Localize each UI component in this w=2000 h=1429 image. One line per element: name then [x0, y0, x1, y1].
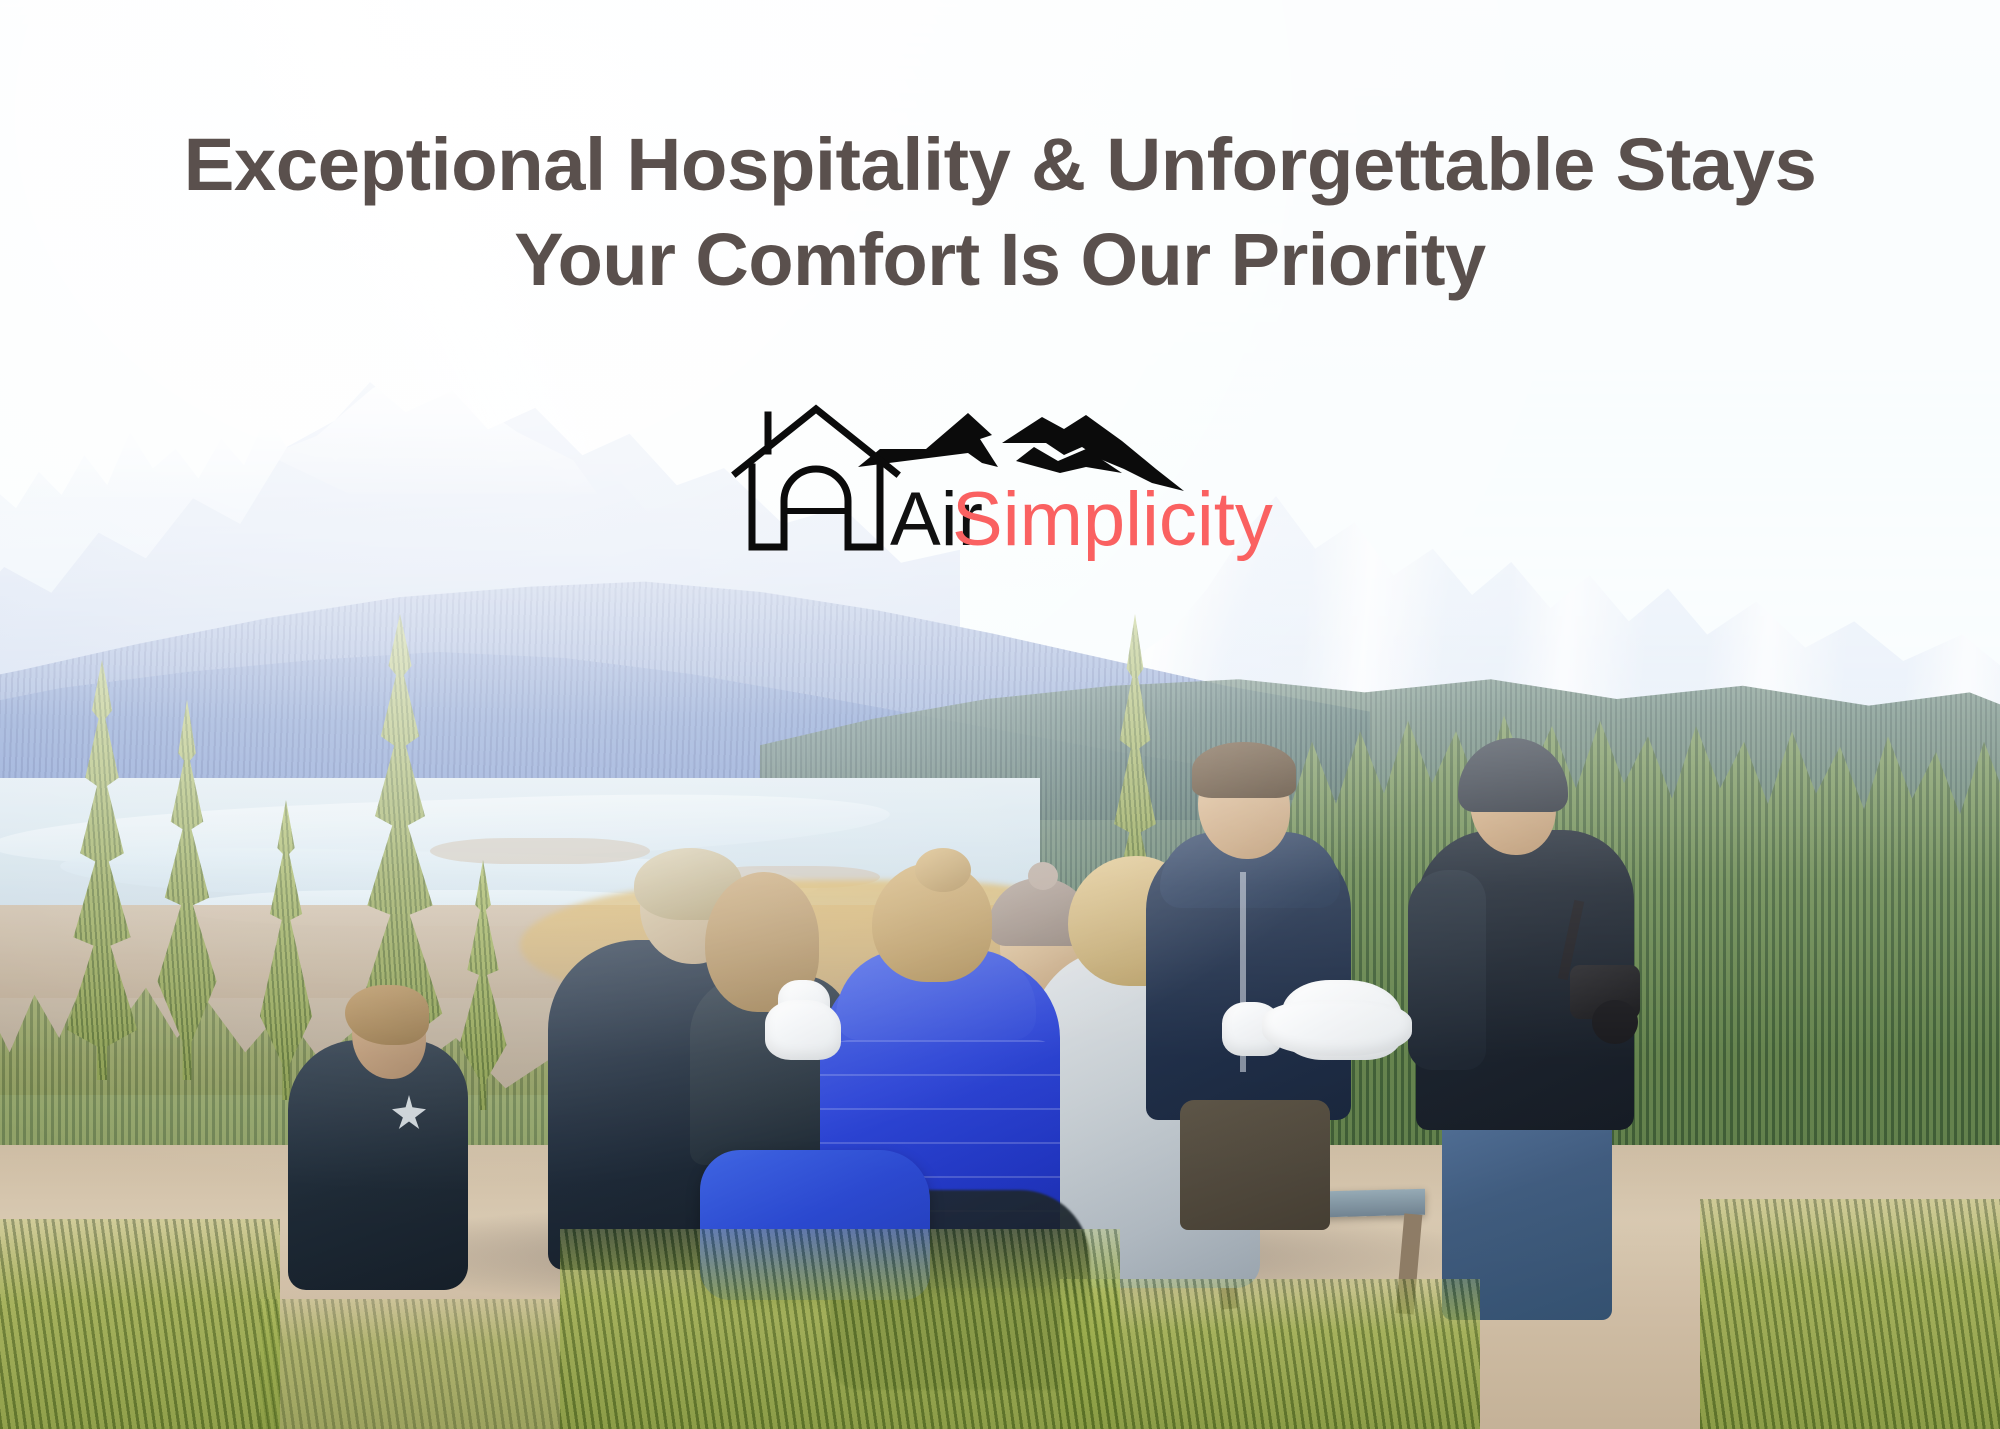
- house-outline-icon: [736, 409, 896, 547]
- person-seated-woman-dark-jacket: [288, 1040, 468, 1290]
- person-standing-man-hair: [1192, 742, 1296, 798]
- gravel-bar-1: [430, 838, 650, 864]
- foreground-scrub-left-2: [260, 1299, 560, 1429]
- headline-line-2: Your Comfort Is Our Priority: [0, 213, 2000, 308]
- plastic-bag-2: [1262, 1000, 1412, 1056]
- beanie-pompom-icon: [1028, 862, 1058, 890]
- hero-banner: Exceptional Hospitality & Unforgettable …: [0, 0, 2000, 1429]
- person-woman-blue-hair-bun: [915, 848, 971, 892]
- foreground-scrub-far-right: [1700, 1199, 2000, 1429]
- foreground-scrub-left: [0, 1219, 280, 1429]
- person-far-right-arm: [1408, 870, 1486, 1070]
- logo-text-simplicity: Simplicity: [952, 477, 1273, 562]
- foreground-scrub-right: [1060, 1279, 1480, 1429]
- plastic-bag-4: [765, 1000, 841, 1060]
- headline-line-1: Exceptional Hospitality & Unforgettable …: [0, 118, 2000, 213]
- page-title: Exceptional Hospitality & Unforgettable …: [0, 118, 2000, 307]
- foreground-scrub-centre: [560, 1229, 1120, 1429]
- person-standing-man-pants: [1180, 1100, 1330, 1230]
- brand-logo[interactable]: Air Simplicity: [730, 395, 1270, 555]
- camera-lens-icon: [1592, 1000, 1638, 1044]
